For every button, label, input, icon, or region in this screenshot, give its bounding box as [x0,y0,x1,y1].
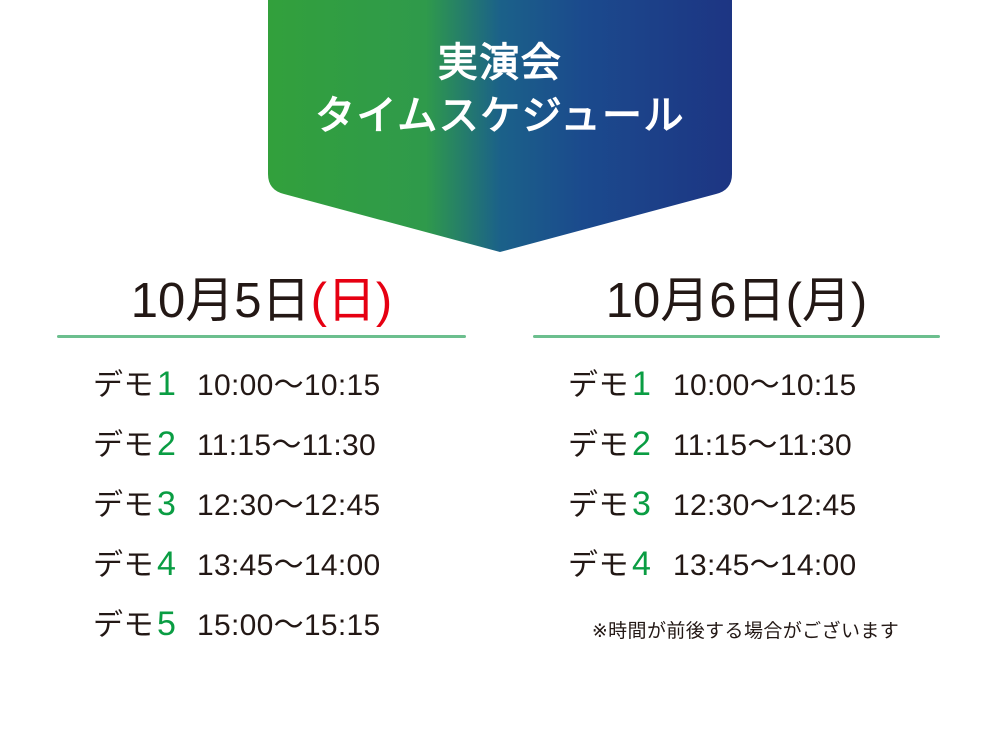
session-label-text: デモ [568,429,629,462]
session-row: デモ1 10:00～10:15 [533,360,940,420]
session-list-2: デモ1 10:00～10:15 デモ2 11:15～11:30 デモ3 12:3… [533,360,940,600]
session-label: デモ4 [57,540,197,584]
session-label-text: デモ [93,609,154,642]
session-label-text: デモ [93,369,154,402]
day-column-1: 10月5日(日) デモ1 10:00～10:15 デモ2 11:15～11:30… [0,275,500,660]
session-time: 13:45～14:00 [673,540,856,584]
banner-shape-icon [268,0,732,254]
session-time: 10:00～10:15 [197,360,380,404]
session-label: デモ4 [533,540,673,584]
session-number: 4 [154,545,176,583]
banner-ribbon: 実演会 タイムスケジュール [268,0,732,254]
session-number: 2 [629,425,651,463]
session-label-text: デモ [93,429,154,462]
session-row: デモ2 11:15～11:30 [57,420,466,480]
date-dow-2: (月) [786,274,868,328]
date-main-1: 10月5日 [131,274,311,328]
session-number: 2 [154,425,176,463]
session-time: 12:30～12:45 [197,480,380,524]
session-label-text: デモ [568,369,629,402]
session-time: 10:00～10:15 [673,360,856,404]
session-row: デモ4 13:45～14:00 [533,540,940,600]
session-label-text: デモ [93,549,154,582]
date-heading-2: 10月6日(月) [533,275,940,333]
date-divider-1 [57,335,466,338]
session-time: 12:30～12:45 [673,480,856,524]
session-number: 3 [154,485,176,523]
session-number: 1 [629,365,651,403]
session-time: 15:00～15:15 [197,600,380,644]
session-label: デモ5 [57,600,197,644]
session-time: 11:15～11:30 [673,420,852,464]
session-number: 5 [154,605,176,643]
session-label: デモ3 [57,480,197,524]
date-divider-2 [533,335,940,338]
schedule-note: ※時間が前後する場合がございます [533,616,940,643]
session-row: デモ3 12:30～12:45 [57,480,466,540]
session-list-1: デモ1 10:00～10:15 デモ2 11:15～11:30 デモ3 12:3… [57,360,466,660]
session-time: 11:15～11:30 [197,420,376,464]
session-row: デモ2 11:15～11:30 [533,420,940,480]
session-label-text: デモ [568,549,629,582]
session-label-text: デモ [93,489,154,522]
session-label: デモ1 [57,360,197,404]
session-label: デモ2 [57,420,197,464]
date-heading-1: 10月5日(日) [57,275,466,333]
session-row: デモ5 15:00～15:15 [57,600,466,660]
schedule-columns: 10月5日(日) デモ1 10:00～10:15 デモ2 11:15～11:30… [0,275,1000,660]
session-number: 4 [629,545,651,583]
session-number: 1 [154,365,176,403]
session-row: デモ3 12:30～12:45 [533,480,940,540]
session-row: デモ4 13:45～14:00 [57,540,466,600]
session-time: 13:45～14:00 [197,540,380,584]
schedule-poster: 実演会 タイムスケジュール 10月5日(日) デモ1 10:00～10:15 デ… [0,0,1000,750]
date-main-2: 10月6日 [606,274,786,328]
session-row: デモ1 10:00～10:15 [57,360,466,420]
day-column-2: 10月6日(月) デモ1 10:00～10:15 デモ2 11:15～11:30… [500,275,1000,660]
session-label: デモ2 [533,420,673,464]
session-number: 3 [629,485,651,523]
session-label: デモ1 [533,360,673,404]
date-dow-1: (日) [311,274,393,328]
session-label: デモ3 [533,480,673,524]
session-label-text: デモ [568,489,629,522]
